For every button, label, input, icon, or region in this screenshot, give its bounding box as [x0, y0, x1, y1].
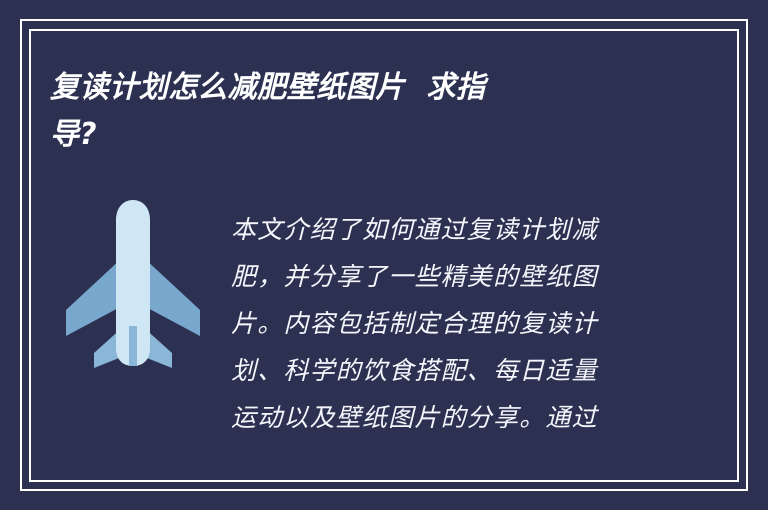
page-title: 复读计划怎么减肥壁纸图片 求指 导?: [50, 64, 690, 158]
body-line-5: 运动以及壁纸图片的分享。通过: [231, 394, 661, 441]
title-line-2: 导?: [50, 111, 671, 158]
body-line-2: 肥，并分享了一些精美的壁纸图: [231, 253, 661, 300]
body-line-4: 划、科学的饮食搭配、每日适量: [231, 347, 661, 394]
body-line-3: 片。内容包括制定合理的复读计: [231, 300, 661, 347]
airplane-icon: [58, 198, 208, 368]
body-paragraph: 本文介绍了如何通过复读计划减 肥，并分享了一些精美的壁纸图 片。内容包括制定合理…: [231, 206, 661, 441]
body-line-1: 本文介绍了如何通过复读计划减: [231, 206, 661, 253]
poster-canvas: 复读计划怎么减肥壁纸图片 求指 导? 本文介绍了如何通过复读计划减 肥，并分享了…: [0, 0, 768, 510]
title-line-1: 复读计划怎么减肥壁纸图片 求指: [50, 64, 671, 111]
